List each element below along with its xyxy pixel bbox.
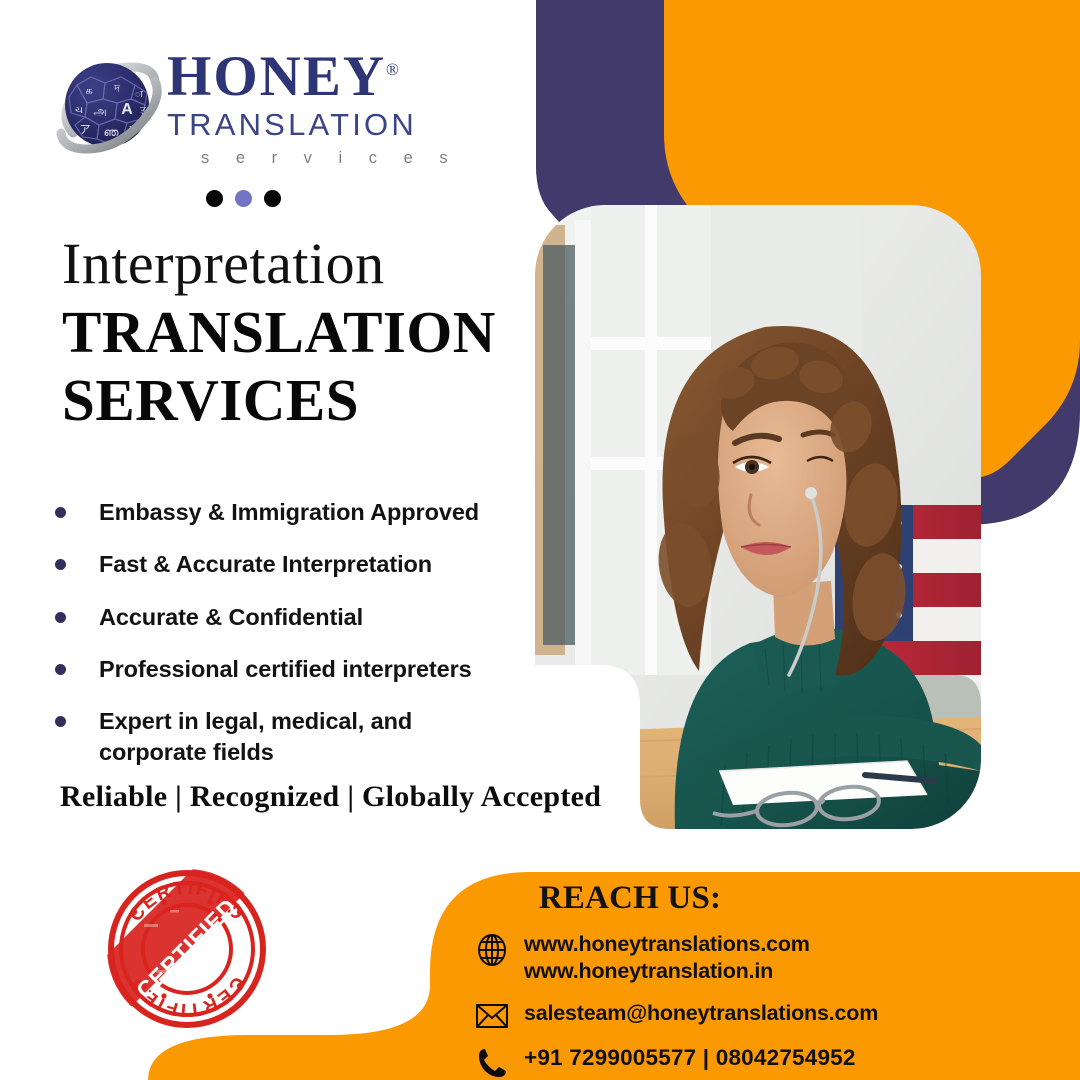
list-item: Fast & Accurate Interpretation xyxy=(55,549,525,580)
contact-row-email[interactable]: salesteam@honeytranslations.com xyxy=(470,1000,1060,1030)
contact-row-phone[interactable]: +91 7299005577 | 08042754952 xyxy=(470,1044,1060,1080)
flyer-canvas: க দ ा ચ அ A ਤ ア ഞ ਚ HONEY® TRANSLATION s… xyxy=(0,0,1080,1080)
svg-text:ચ: ચ xyxy=(75,105,83,116)
registered-trademark-icon: ® xyxy=(386,60,399,79)
list-item: Expert in legal, medical, and corporate … xyxy=(55,706,525,769)
svg-text:A: A xyxy=(121,101,133,118)
decorative-dots xyxy=(206,190,281,207)
feature-label: Professional certified interpreters xyxy=(99,654,472,685)
email-address[interactable]: salesteam@honeytranslations.com xyxy=(524,1000,878,1027)
globe-icon xyxy=(470,931,514,967)
svg-text:ा: ा xyxy=(135,89,143,99)
bullet-icon xyxy=(55,612,66,623)
website-values: www.honeytranslations.com www.honeytrans… xyxy=(514,931,810,986)
logo-name-primary: HONEY® xyxy=(167,48,399,105)
list-item: Accurate & Confidential xyxy=(55,602,525,633)
bullet-icon xyxy=(55,664,66,675)
dot-1 xyxy=(206,190,223,207)
list-item: Professional certified interpreters xyxy=(55,654,525,685)
feature-label: Embassy & Immigration Approved xyxy=(99,497,479,528)
list-item: Embassy & Immigration Approved xyxy=(55,497,525,528)
dot-2 xyxy=(235,190,252,207)
certified-stamp-icon: CERTIFIED CERTIFIED CERTIFIED xyxy=(104,866,270,1032)
bullet-icon xyxy=(55,559,66,570)
headline-line-2: SERVICES xyxy=(62,367,532,433)
phone-numbers[interactable]: +91 7299005577 | 08042754952 xyxy=(524,1044,856,1073)
bullet-icon xyxy=(55,507,66,518)
headline-script: Interpretation xyxy=(62,232,532,297)
logo-wordmark: HONEY® TRANSLATION s e r v i c e s xyxy=(167,48,417,168)
headline-block: Interpretation TRANSLATION SERVICES xyxy=(62,232,532,433)
bullet-icon xyxy=(55,716,66,727)
svg-text:ア: ア xyxy=(80,124,91,136)
website-secondary[interactable]: www.honeytranslation.in xyxy=(524,958,810,985)
phone-values: +91 7299005577 | 08042754952 xyxy=(514,1044,856,1073)
globe-languages-icon: க দ ा ચ அ A ਤ ア ഞ ਚ xyxy=(55,53,163,163)
website-primary[interactable]: www.honeytranslations.com xyxy=(524,931,810,958)
contact-row-website[interactable]: www.honeytranslations.com www.honeytrans… xyxy=(470,931,1060,986)
hero-photo xyxy=(535,205,981,829)
email-value: salesteam@honeytranslations.com xyxy=(514,1000,878,1027)
tagline: Reliable | Recognized | Globally Accepte… xyxy=(60,780,601,814)
contact-block: REACH US: www.honeytranslations.com www.… xyxy=(470,880,1060,1080)
feature-list: Embassy & Immigration Approved Fast & Ac… xyxy=(55,497,525,790)
dot-3 xyxy=(264,190,281,207)
feature-label: Expert in legal, medical, and corporate … xyxy=(99,706,439,769)
logo-name-secondary: TRANSLATION xyxy=(167,107,417,143)
svg-text:க: க xyxy=(85,85,92,97)
feature-label: Accurate & Confidential xyxy=(99,602,363,633)
brand-logo[interactable]: க দ ा ચ அ A ਤ ア ഞ ਚ HONEY® TRANSLATION s… xyxy=(55,48,410,173)
headline-line-1: TRANSLATION xyxy=(62,299,532,365)
envelope-icon xyxy=(470,1000,514,1030)
contact-heading: REACH US: xyxy=(470,880,790,917)
logo-name-tertiary: s e r v i c e s xyxy=(201,149,417,168)
feature-label: Fast & Accurate Interpretation xyxy=(99,549,432,580)
svg-text:அ: அ xyxy=(93,104,106,118)
purple-left-stub xyxy=(536,0,664,230)
phone-icon xyxy=(470,1044,514,1080)
svg-text:দ: দ xyxy=(113,83,120,95)
